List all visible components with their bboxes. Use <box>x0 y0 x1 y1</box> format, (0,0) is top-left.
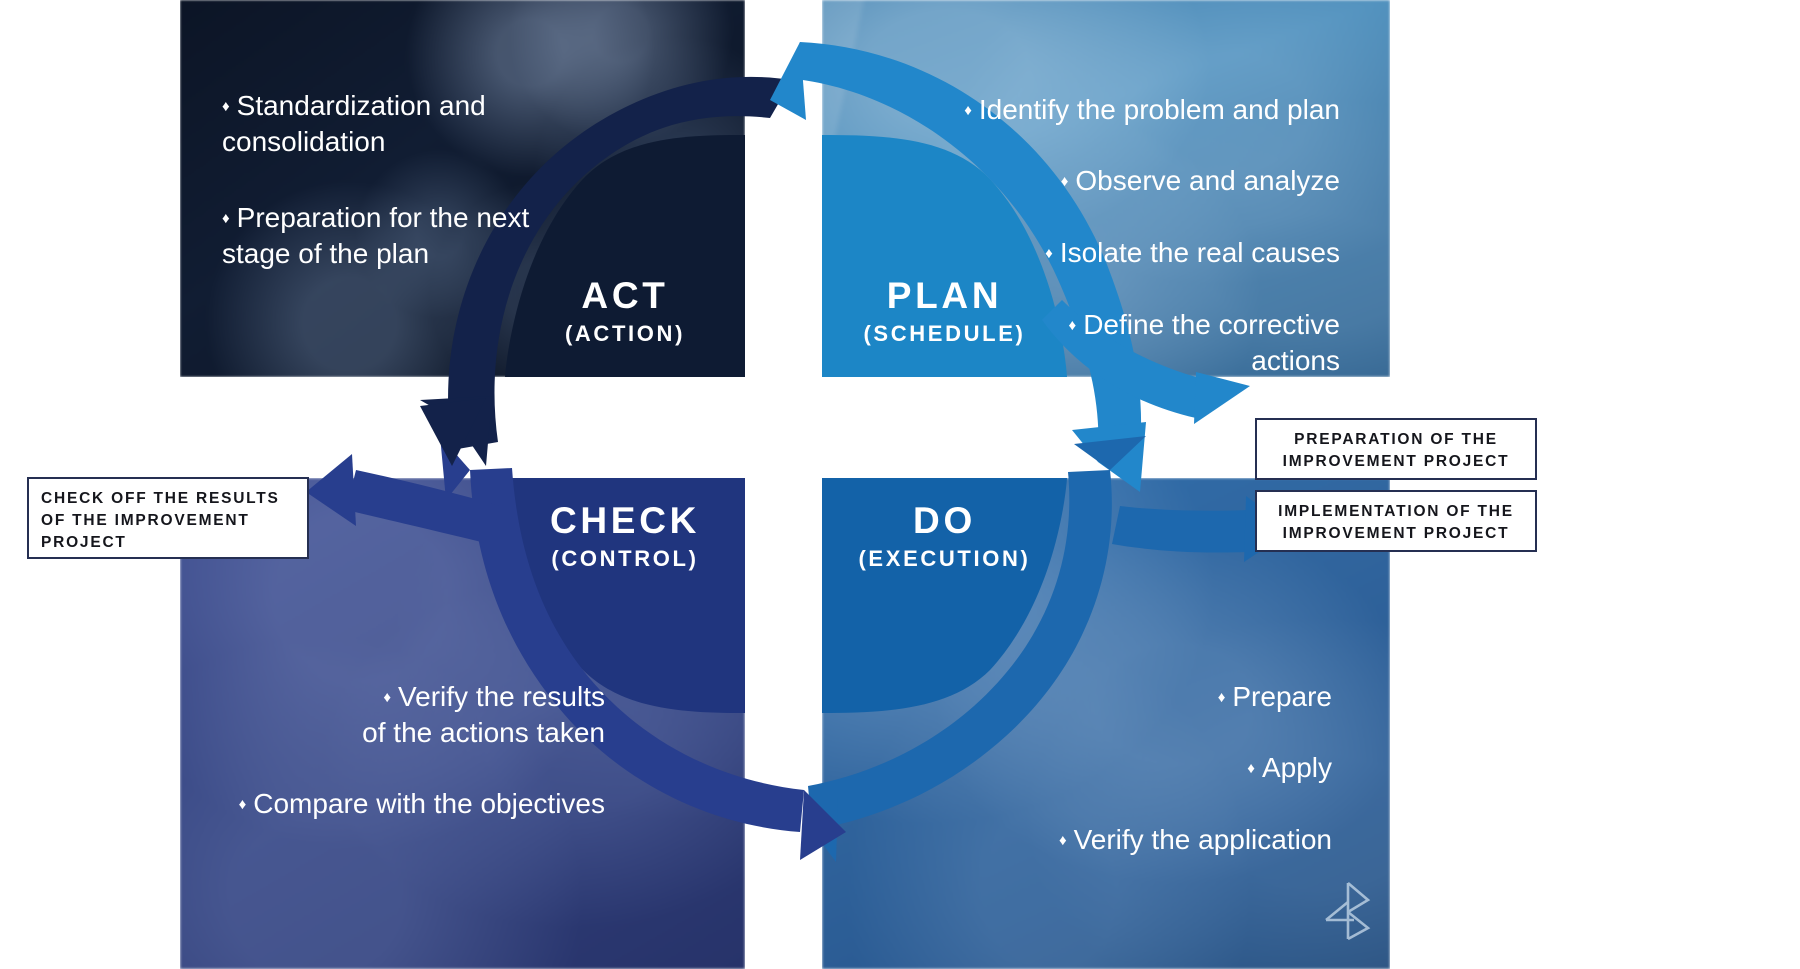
list-item: ♦Define the corrective actions <box>880 271 1340 378</box>
list-item: ♦Standardization and consolidation <box>222 52 582 159</box>
check-subtitle: (CONTROL) <box>505 548 745 570</box>
bullet-icon: ♦ <box>1061 172 1069 191</box>
callout-line: CHECK OFF THE RESULTS <box>41 488 295 510</box>
act-title: ACT <box>505 277 745 314</box>
bullet-icon: ♦ <box>383 688 391 707</box>
callout-line: IMPROVEMENT PROJECT <box>1269 451 1523 473</box>
arrowhead-top-junction <box>420 398 486 466</box>
list-item: ♦Apply <box>930 715 1332 787</box>
list-item: ♦Isolate the real causes <box>880 199 1340 271</box>
check-title: CHECK <box>505 502 745 539</box>
bullet-icon: ♦ <box>222 209 230 228</box>
act-subtitle: (ACTION) <box>505 323 745 345</box>
bullet-icon: ♦ <box>964 101 972 120</box>
list-item: ♦Preparation for the next stage of the p… <box>222 164 582 271</box>
bullet-icon: ♦ <box>1045 244 1053 263</box>
brand-logo-shape <box>1320 880 1374 942</box>
do-title: DO <box>822 502 1067 539</box>
act-caption: ACT (ACTION) <box>505 277 745 345</box>
bullet-icon: ♦ <box>1069 316 1077 335</box>
callout-check-off-results: CHECK OFF THE RESULTS OF THE IMPROVEMENT… <box>27 477 309 559</box>
act-bullets: ♦Standardization and consolidation ♦Prep… <box>222 52 582 272</box>
plan-bullets: ♦Identify the problem and plan ♦Observe … <box>880 56 1340 378</box>
callout-implementation-project: IMPLEMENTATION OF THE IMPROVEMENT PROJEC… <box>1255 490 1537 552</box>
callout-preparation-project: PREPARATION OF THE IMPROVEMENT PROJECT <box>1255 418 1537 480</box>
list-item: ♦Compare with the objectives <box>200 750 605 822</box>
do-caption: DO (EXECUTION) <box>822 502 1067 570</box>
do-bullets: ♦Prepare ♦Apply ♦Verify the application <box>930 643 1332 858</box>
callout-line: IMPLEMENTATION OF THE <box>1269 501 1523 523</box>
callout-line: PROJECT <box>41 532 295 554</box>
list-item: ♦Identify the problem and plan <box>880 56 1340 128</box>
callout-line: IMPROVEMENT PROJECT <box>1269 523 1523 545</box>
list-item: ♦Verify the results of the actions taken <box>200 643 605 750</box>
check-caption: CHECK (CONTROL) <box>505 502 745 570</box>
callout-line: PREPARATION OF THE <box>1269 429 1523 451</box>
bullet-icon: ♦ <box>1218 688 1226 707</box>
bullet-icon: ♦ <box>239 795 247 814</box>
list-item: ♦Observe and analyze <box>880 128 1340 200</box>
list-item: ♦Prepare <box>930 643 1332 715</box>
callout-line: OF THE IMPROVEMENT <box>41 510 295 532</box>
bullet-icon: ♦ <box>222 97 230 116</box>
bullet-icon: ♦ <box>1059 831 1067 850</box>
pdca-diagram-canvas: ACT (ACTION) PLAN (SCHEDULE) CHECK (CONT… <box>0 0 1800 969</box>
do-subtitle: (EXECUTION) <box>822 548 1067 570</box>
list-item: ♦Verify the application <box>930 786 1332 858</box>
check-bullets: ♦Verify the results of the actions taken… <box>200 643 605 822</box>
brand-logo-icon <box>1320 880 1374 942</box>
bullet-icon: ♦ <box>1247 759 1255 778</box>
